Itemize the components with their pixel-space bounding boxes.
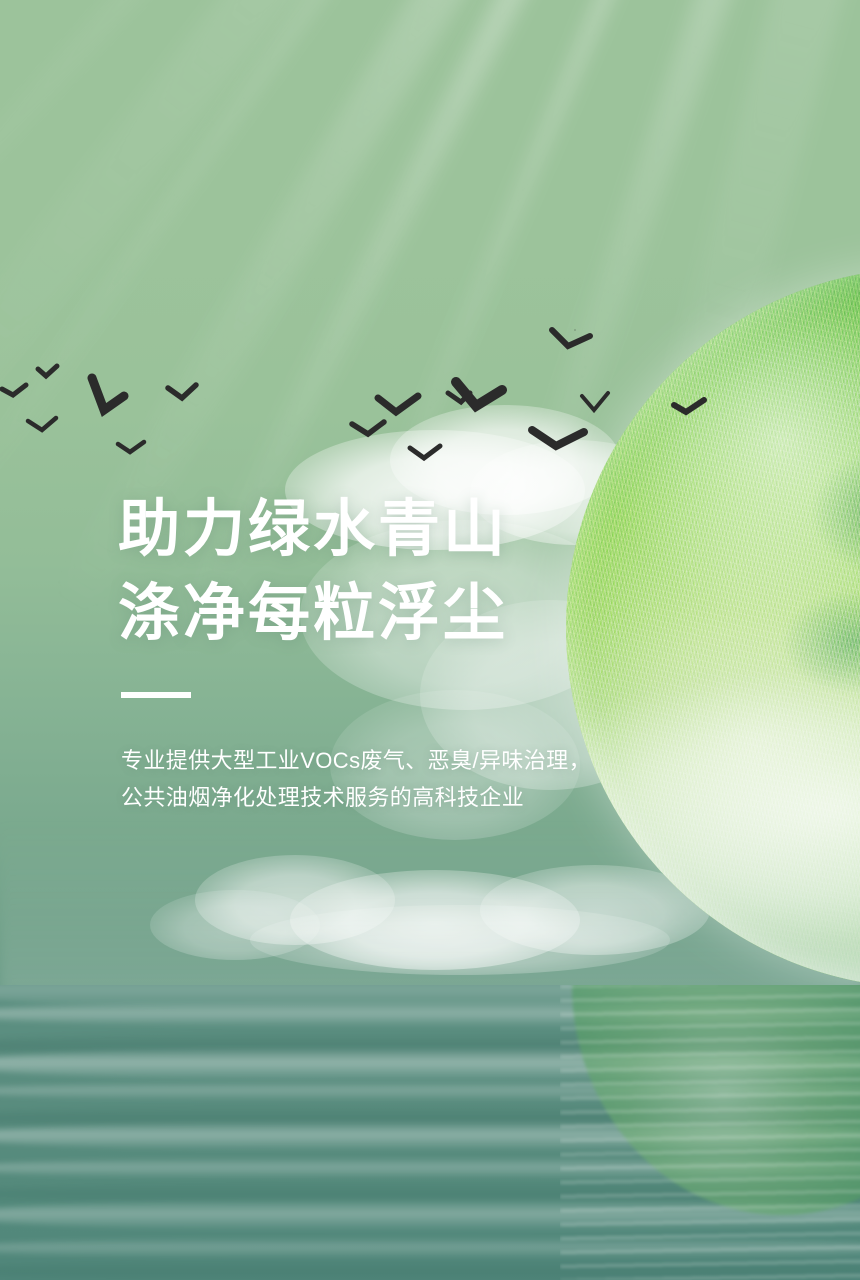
divider-rule (121, 692, 191, 698)
headline-line-1: 助力绿水青山 (118, 488, 658, 572)
headline-line-2: 涤净每粒浮尘 (118, 572, 658, 656)
hero-copy-block: 助力绿水青山 涤净每粒浮尘 专业提供大型工业VOCs废气、恶臭/异味治理， 公共… (118, 488, 658, 816)
water-surface (0, 985, 860, 1280)
subtitle-line-1: 专业提供大型工业VOCs废气、恶臭/异味治理， (121, 742, 658, 779)
subtitle-line-2: 公共油烟净化处理技术服务的高科技企业 (121, 779, 658, 816)
poster-canvas: 助力绿水青山 涤净每粒浮尘 专业提供大型工业VOCs废气、恶臭/异味治理， 公共… (0, 0, 860, 1280)
